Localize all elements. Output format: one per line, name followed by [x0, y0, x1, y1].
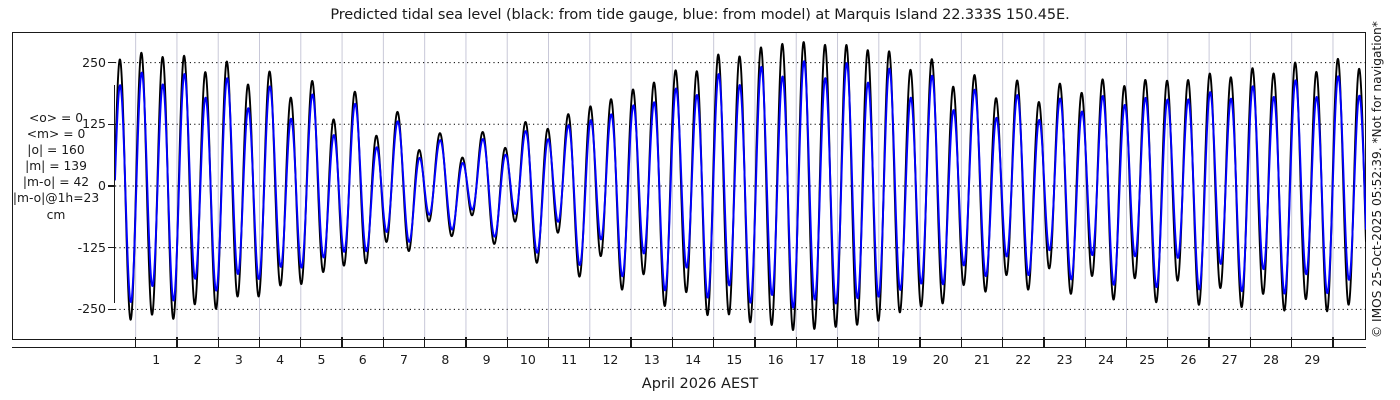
credit-label: © IMOS 25-Oct-2025 05:52:39. *Not for na… — [1370, 21, 1384, 338]
x-tick-label: 25 — [1139, 352, 1155, 367]
x-tick-label: 14 — [685, 352, 701, 367]
x-tick-label: 10 — [520, 352, 536, 367]
x-tick-mark — [878, 337, 879, 347]
x-tick-label: 6 — [359, 352, 367, 367]
x-tick-mark — [1332, 337, 1333, 347]
y-tick-mark — [108, 247, 115, 248]
x-tick-label: 4 — [276, 352, 284, 367]
tide-series-plot — [115, 33, 1366, 339]
y-axis-spine — [114, 85, 115, 303]
x-tick-mark — [796, 337, 797, 347]
y-tick-label: -250 — [70, 301, 106, 316]
x-tick-mark — [548, 337, 549, 347]
tidal-chart-page: Predicted tidal sea level (black: from t… — [0, 0, 1400, 400]
x-tick-mark — [713, 337, 714, 347]
stat-rms-difference-1h: |m-o|@1h=23 — [2, 190, 110, 206]
x-tick-label: 7 — [400, 352, 408, 367]
x-tick-mark — [837, 337, 838, 347]
x-tick-mark — [507, 337, 508, 347]
x-tick-label: 2 — [194, 352, 202, 367]
x-tick-mark — [672, 337, 673, 347]
statistics-block: <o> = 0 <m> = 0 |o| = 160 |m| = 139 |m-o… — [2, 110, 110, 223]
x-tick-mark — [961, 337, 962, 347]
x-tick-label: 29 — [1304, 352, 1320, 367]
x-axis-spine — [12, 347, 1366, 348]
x-tick-label: 9 — [483, 352, 491, 367]
x-tick-mark — [465, 337, 466, 347]
x-tick-mark — [424, 337, 425, 347]
x-tick-mark — [1291, 337, 1292, 347]
x-tick-mark — [1002, 337, 1003, 347]
x-tick-mark — [300, 337, 301, 347]
x-tick-label: 27 — [1222, 352, 1238, 367]
x-tick-mark — [135, 337, 136, 347]
x-tick-mark — [218, 337, 219, 347]
chart-title: Predicted tidal sea level (black: from t… — [0, 7, 1400, 23]
plot-area — [115, 33, 1366, 339]
x-tick-label: 11 — [561, 352, 577, 367]
x-tick-label: 12 — [602, 352, 618, 367]
x-tick-mark — [383, 337, 384, 347]
stat-mean-model: <m> = 0 — [2, 126, 110, 142]
x-tick-mark — [259, 337, 260, 347]
x-tick-mark — [341, 337, 342, 347]
x-tick-label: 21 — [974, 352, 990, 367]
stat-units: cm — [2, 207, 110, 223]
x-tick-mark — [589, 337, 590, 347]
x-tick-mark — [176, 337, 177, 347]
y-tick-label: -125 — [70, 240, 106, 255]
stat-mean-observed: <o> = 0 — [2, 110, 110, 126]
x-tick-label: 15 — [726, 352, 742, 367]
x-tick-mark — [1208, 337, 1209, 347]
stat-rms-difference: |m-o| = 42 — [2, 174, 110, 190]
x-tick-label: 8 — [441, 352, 449, 367]
stat-rms-model: |m| = 139 — [2, 158, 110, 174]
x-tick-label: 1 — [152, 352, 160, 367]
x-tick-mark — [1126, 337, 1127, 347]
y-tick-label: 250 — [70, 55, 106, 70]
x-tick-mark — [1043, 337, 1044, 347]
x-tick-label: 13 — [644, 352, 660, 367]
x-tick-label: 22 — [1015, 352, 1031, 367]
x-tick-mark — [919, 337, 920, 347]
x-tick-label: 3 — [235, 352, 243, 367]
x-tick-label: 20 — [933, 352, 949, 367]
x-tick-label: 16 — [768, 352, 784, 367]
x-axis-title: April 2026 AEST — [0, 376, 1400, 392]
y-tick-mark — [108, 309, 115, 310]
x-tick-label: 28 — [1263, 352, 1279, 367]
x-tick-mark — [754, 337, 755, 347]
x-tick-label: 18 — [850, 352, 866, 367]
x-tick-mark — [1167, 337, 1168, 347]
x-tick-label: 17 — [809, 352, 825, 367]
x-tick-label: 19 — [892, 352, 908, 367]
x-tick-mark — [1250, 337, 1251, 347]
stat-rms-observed: |o| = 160 — [2, 142, 110, 158]
y-tick-mark — [108, 62, 115, 63]
x-tick-mark — [1085, 337, 1086, 347]
credit-text: © IMOS 25-Oct-2025 05:52:39. *Not for na… — [1369, 0, 1389, 340]
x-tick-label: 23 — [1057, 352, 1073, 367]
x-tick-label: 24 — [1098, 352, 1114, 367]
x-tick-mark — [630, 337, 631, 347]
x-tick-label: 5 — [317, 352, 325, 367]
x-tick-label: 26 — [1181, 352, 1197, 367]
